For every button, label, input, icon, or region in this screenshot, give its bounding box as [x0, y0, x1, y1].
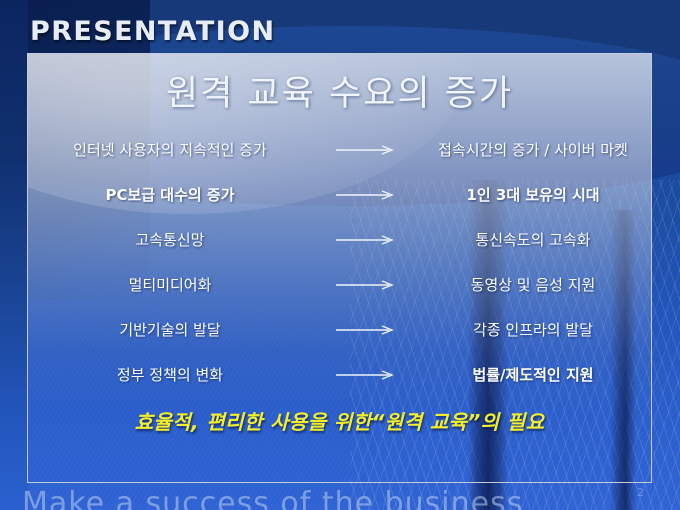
cause-effect-row: 정부 정책의 변화 법률/제도적인 지원	[28, 352, 651, 397]
effect-text: 법률/제도적인 지원	[413, 364, 651, 385]
cause-effect-list: 인터넷 사용자의 지속적인 증가 접속시간의 증가 / 사이버 마켓 PC보급 …	[28, 127, 651, 397]
right-arrow-icon	[318, 189, 413, 201]
presentation-slide: PRESENTATION 원격 교육 수요의 증가 인터넷 사용자의 지속적인 …	[0, 0, 680, 510]
footer-tagline: Make a success of the business	[22, 486, 523, 510]
effect-text: 접속시간의 증가 / 사이버 마켓	[413, 139, 651, 160]
cause-text: PC보급 대수의 증가	[28, 184, 318, 205]
cause-text: 정부 정책의 변화	[28, 364, 318, 385]
right-arrow-icon	[318, 369, 413, 381]
content-panel: 원격 교육 수요의 증가 인터넷 사용자의 지속적인 증가 접속시간의 증가 /…	[27, 53, 652, 483]
cause-text: 멀티미디어화	[28, 274, 318, 295]
cause-text: 기반기술의 발달	[28, 319, 318, 340]
right-arrow-icon	[318, 279, 413, 291]
cause-effect-row: 고속통신망 통신속도의 고속화	[28, 217, 651, 262]
cause-text: 인터넷 사용자의 지속적인 증가	[28, 139, 318, 160]
effect-text: 통신속도의 고속화	[413, 229, 651, 250]
cause-effect-row: 인터넷 사용자의 지속적인 증가 접속시간의 증가 / 사이버 마켓	[28, 127, 651, 172]
right-arrow-icon	[318, 324, 413, 336]
slide-title: 원격 교육 수요의 증가	[28, 65, 651, 116]
effect-text: 각종 인프라의 발달	[413, 319, 651, 340]
cause-effect-row: 멀티미디어화 동영상 및 음성 지원	[28, 262, 651, 307]
right-arrow-icon	[318, 234, 413, 246]
header-title: PRESENTATION	[30, 16, 275, 47]
right-arrow-icon	[318, 144, 413, 156]
effect-text: 동영상 및 음성 지원	[413, 274, 651, 295]
page-number: 2	[637, 486, 644, 499]
background-left-gutter	[0, 0, 28, 510]
cause-effect-row: PC보급 대수의 증가 1인 3대 보유의 시대	[28, 172, 651, 217]
effect-text: 1인 3대 보유의 시대	[413, 184, 651, 205]
panel-inner: 원격 교육 수요의 증가 인터넷 사용자의 지속적인 증가 접속시간의 증가 /…	[28, 54, 651, 482]
cause-effect-row: 기반기술의 발달 각종 인프라의 발달	[28, 307, 651, 352]
cause-text: 고속통신망	[28, 229, 318, 250]
conclusion-text: 효율적, 편리한 사용을 위한“원격 교육”의 필요	[28, 406, 651, 435]
